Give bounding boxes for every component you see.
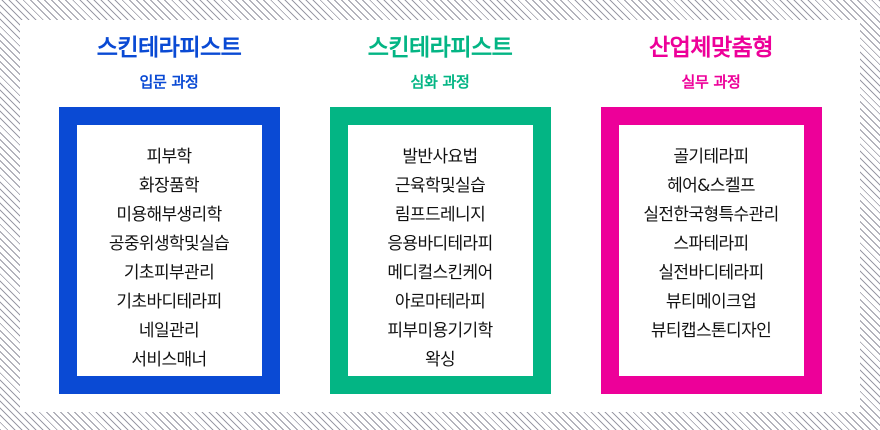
subject-item: 기초피부관리 [124, 259, 214, 288]
subject-item: 화장품학 [139, 172, 199, 201]
course-column-advanced: 스킨테라피스트 심화 과정 발반사요법 근육학및실습 림프드레니지 응용바디테라… [327, 20, 553, 394]
course-subject-box: 발반사요법 근육학및실습 림프드레니지 응용바디테라피 메디컬스킨케어 아로마테… [330, 107, 551, 394]
subject-item: 피부학 [146, 143, 191, 172]
subject-item: 메디컬스킨케어 [387, 259, 492, 288]
subject-item: 응용바디테라피 [387, 230, 492, 259]
course-title: 스킨테라피스트 [97, 35, 242, 63]
subject-item: 림프드레니지 [395, 201, 485, 230]
subject-item: 미용해부생리학 [116, 201, 221, 230]
subject-item: 서비스매너 [131, 346, 206, 375]
subject-item: 발반사요법 [402, 143, 477, 172]
subject-item: 스파테라피 [673, 230, 748, 259]
curriculum-panel: 스킨테라피스트 입문 과정 피부학 화장품학 미용해부생리학 공중위생학및실습 … [20, 20, 860, 412]
subject-item: 피부미용기기학 [387, 317, 492, 346]
course-column-entry: 스킨테라피스트 입문 과정 피부학 화장품학 미용해부생리학 공중위생학및실습 … [56, 20, 282, 394]
subject-item: 네일관리 [139, 317, 199, 346]
subject-item: 공중위생학및실습 [109, 230, 229, 259]
subject-item: 기초바디테라피 [116, 288, 221, 317]
course-subject-list: 골기테라피 헤어&스켈프 실전한국형특수관리 스파테라피 실전바디테라피 뷰티메… [619, 125, 804, 376]
course-subject-list: 발반사요법 근육학및실습 림프드레니지 응용바디테라피 메디컬스킨케어 아로마테… [348, 125, 533, 376]
subject-item: 헤어&스켈프 [667, 172, 755, 201]
course-subject-list: 피부학 화장품학 미용해부생리학 공중위생학및실습 기초피부관리 기초바디테라피… [77, 125, 262, 376]
course-column-practical: 산업체맞춤형 실무 과정 골기테라피 헤어&스켈프 실전한국형특수관리 스파테라… [598, 20, 824, 394]
course-subtitle: 입문 과정 [140, 73, 199, 91]
page-background: 스킨테라피스트 입문 과정 피부학 화장품학 미용해부생리학 공중위생학및실습 … [0, 0, 880, 430]
subject-item: 뷰티메이크업 [666, 288, 756, 317]
course-subtitle: 심화 과정 [411, 73, 470, 91]
course-title: 산업체맞춤형 [649, 35, 773, 63]
subject-item: 실전바디테라피 [658, 259, 763, 288]
subject-item: 왁싱 [425, 346, 455, 375]
subject-item: 뷰티캡스톤디자인 [651, 317, 771, 346]
subject-item: 골기테라피 [673, 143, 748, 172]
subject-item: 근육학및실습 [395, 172, 485, 201]
subject-item: 아로마테라피 [395, 288, 485, 317]
course-title: 스킨테라피스트 [368, 35, 513, 63]
subject-item: 실전한국형특수관리 [643, 201, 778, 230]
course-subject-box: 피부학 화장품학 미용해부생리학 공중위생학및실습 기초피부관리 기초바디테라피… [59, 107, 280, 394]
course-subtitle: 실무 과정 [682, 73, 741, 91]
course-subject-box: 골기테라피 헤어&스켈프 실전한국형특수관리 스파테라피 실전바디테라피 뷰티메… [601, 107, 822, 394]
